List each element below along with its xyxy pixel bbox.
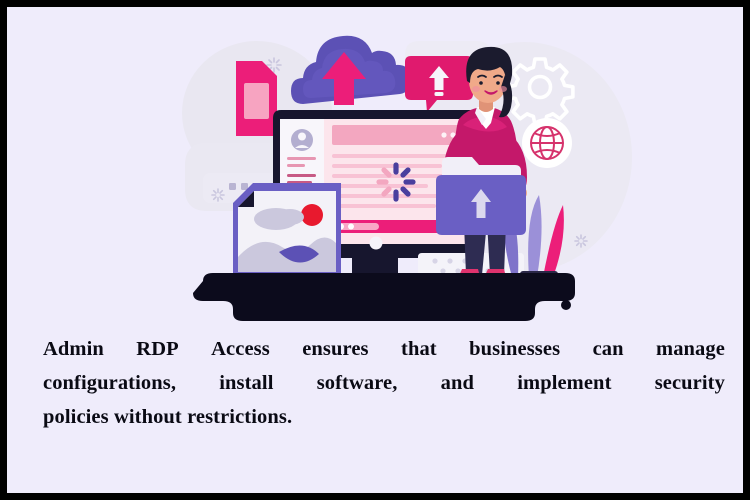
caption-word: manage [656, 332, 725, 366]
cloud-upload-icon [291, 36, 412, 105]
folder-upload-icon [436, 157, 526, 235]
caption-line-3: policies without restrictions. [43, 400, 725, 434]
caption-text: Admin RDP Access ensures that businesses… [43, 332, 725, 434]
globe-icon [522, 118, 572, 168]
caption-word: software, [317, 366, 398, 400]
screenshot-root: Admin RDP Access ensures that businesses… [0, 0, 750, 500]
illustration-area [7, 7, 743, 322]
caption-word: Access [211, 332, 270, 366]
caption-word: configurations, [43, 366, 176, 400]
caption-word: RDP [136, 332, 178, 366]
desk-ground [193, 273, 575, 321]
caption-word: install [219, 366, 273, 400]
window-header-bar [332, 125, 468, 145]
user-avatar-icon [291, 129, 313, 151]
document-file-icon [236, 61, 277, 136]
caption-word: Admin [43, 332, 104, 366]
caption-word: can [593, 332, 624, 366]
caption-word: and [441, 366, 474, 400]
content-canvas: Admin RDP Access ensures that businesses… [7, 7, 743, 493]
caption-word: security [655, 366, 725, 400]
caption-word: implement [517, 366, 611, 400]
caption-word: ensures [302, 332, 368, 366]
caption-word: that [401, 332, 437, 366]
caption-line-1: Admin RDP Access ensures that businesses… [43, 332, 725, 366]
image-file-icon [233, 183, 341, 273]
caption-line-2: configurations, install software, and im… [43, 366, 725, 400]
caption-word: businesses [469, 332, 560, 366]
admin-rdp-access-illustration [7, 7, 743, 322]
